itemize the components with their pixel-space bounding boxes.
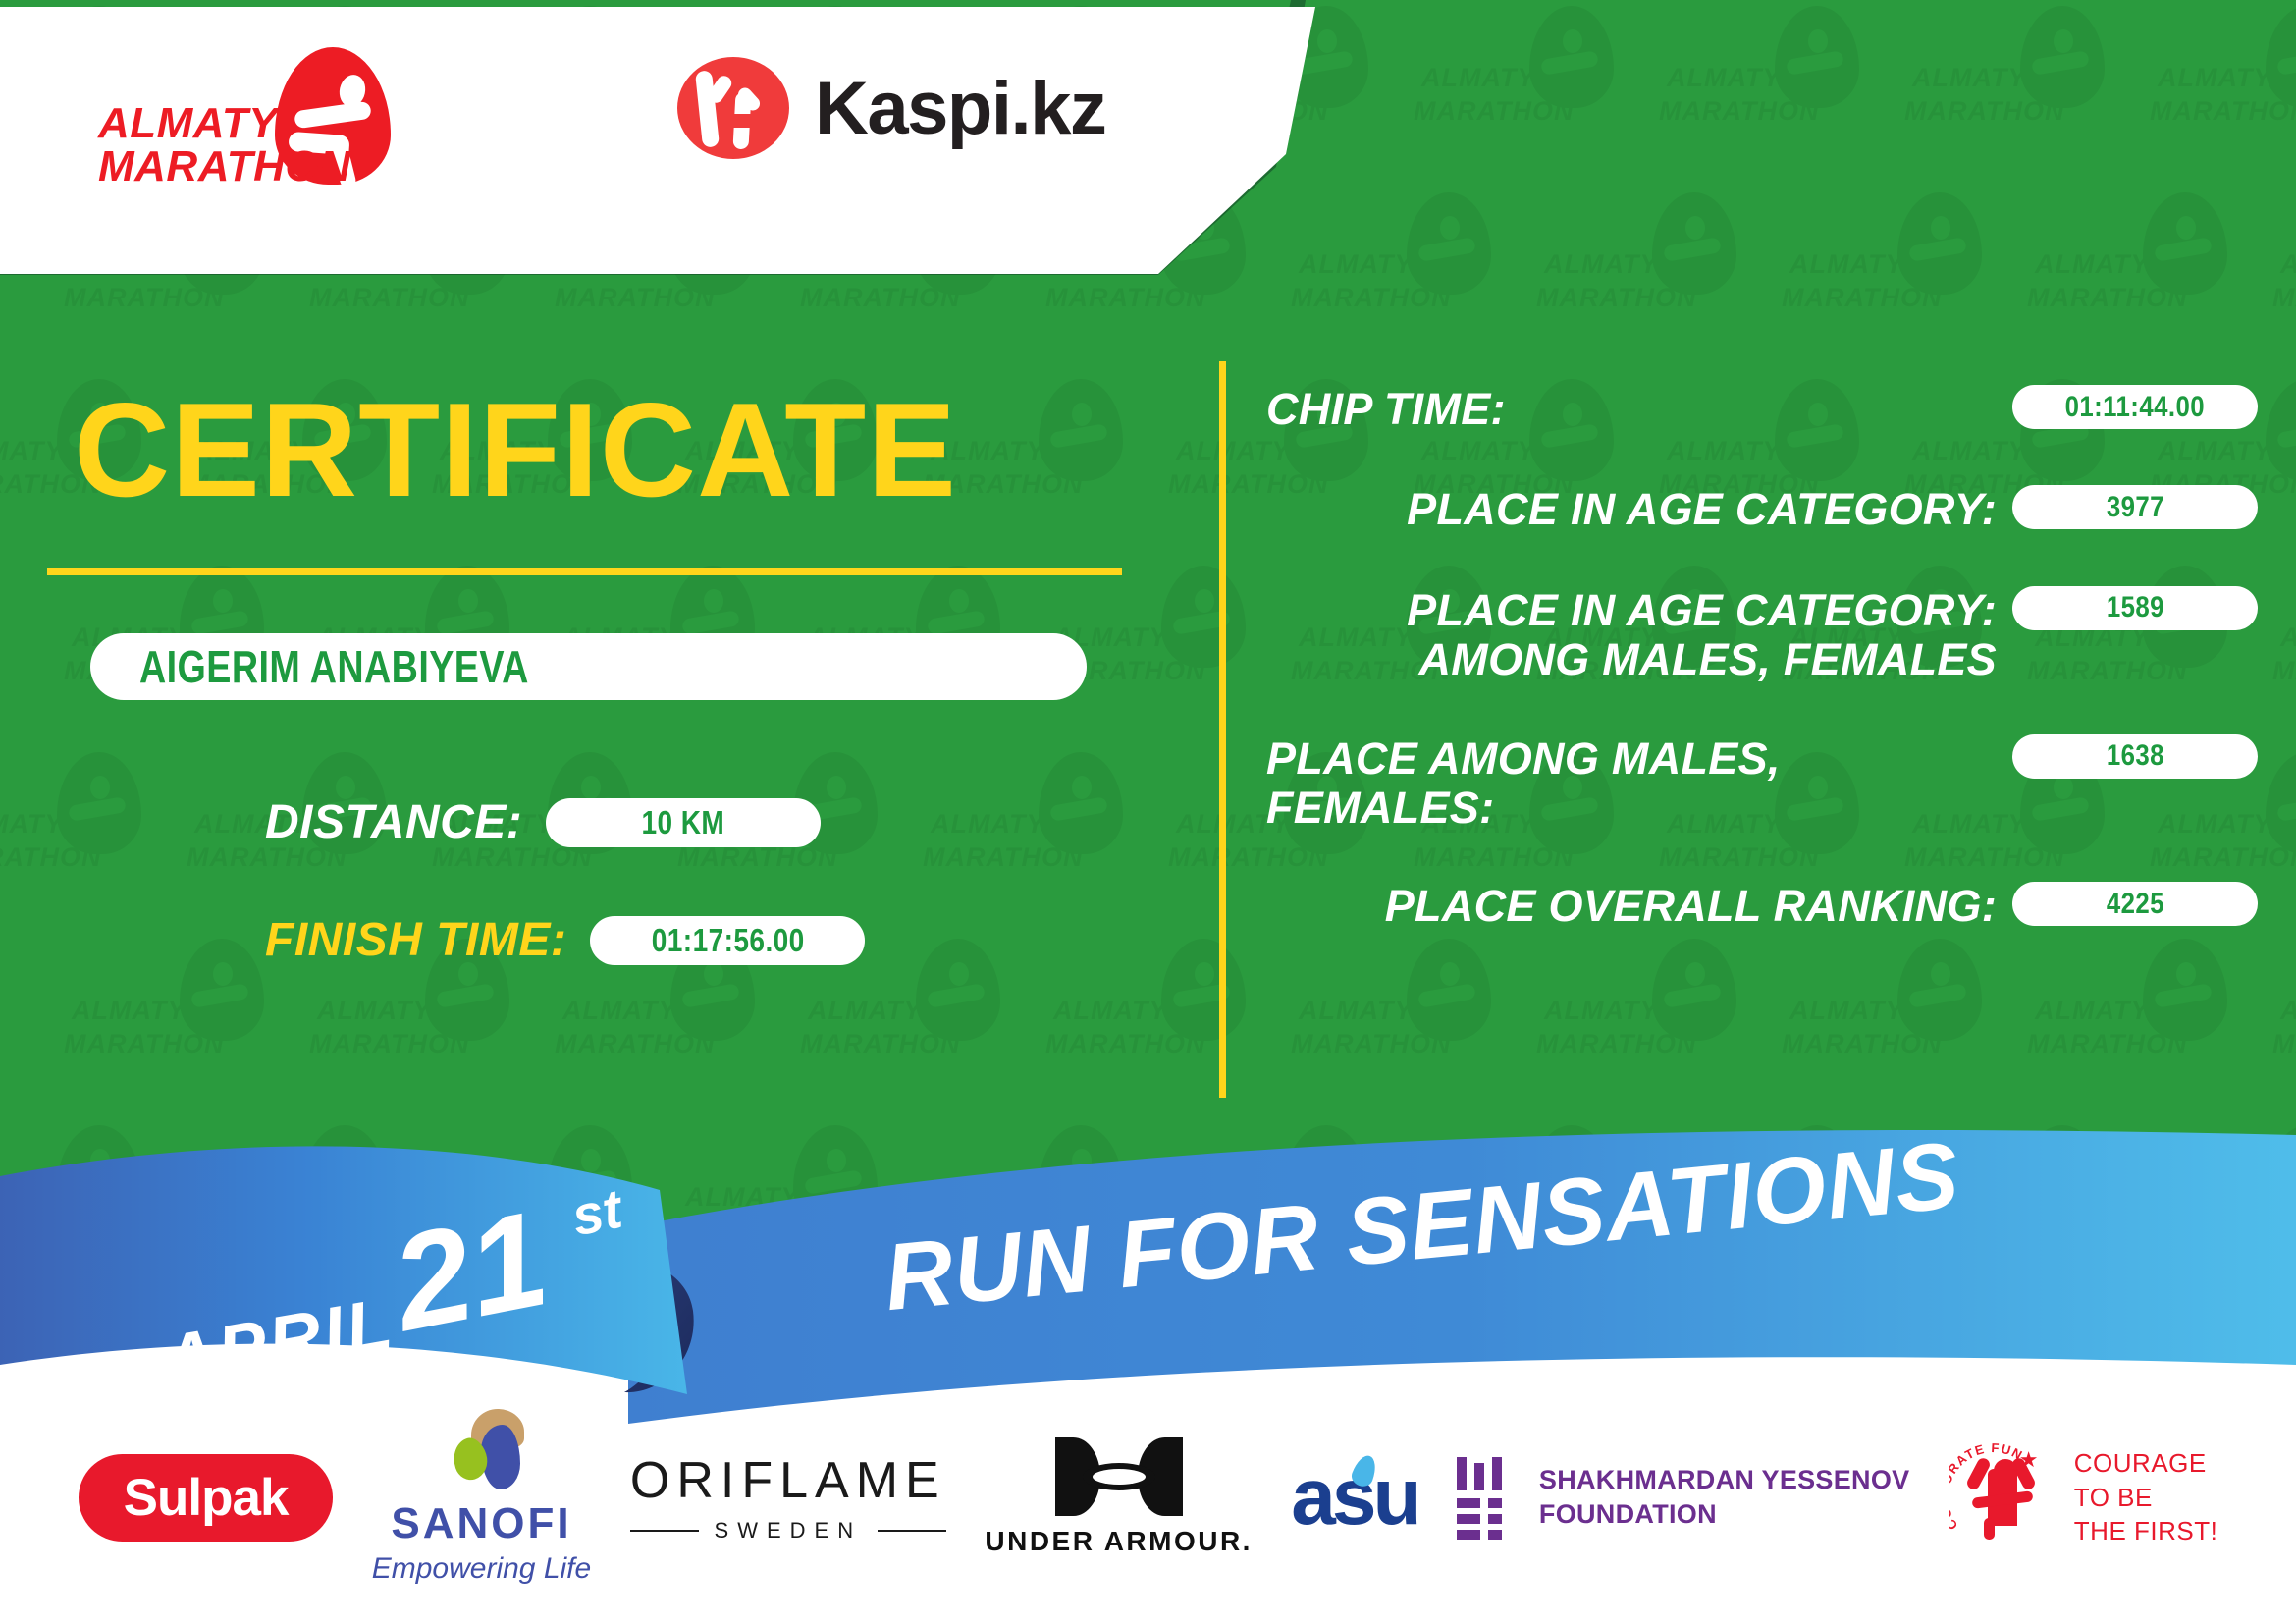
yessenov-line2: FOUNDATION: [1539, 1497, 1910, 1532]
sanofi-tagline: Empowering Life: [372, 1552, 591, 1586]
page-title: CERTIFICATE: [74, 383, 957, 516]
oriflame-name: ORIFLAME: [630, 1451, 946, 1510]
kaspi-people-icon: [677, 57, 789, 159]
place-overall-label: PLACE OVERALL RANKING:: [1266, 882, 2012, 931]
under-armour-logo: [1055, 1437, 1183, 1516]
almaty-marathon-logo: ALMATY MARATHON: [98, 47, 412, 170]
stat-row-place-overall: PLACE OVERALL RANKING: 4225: [1266, 882, 2258, 931]
courage-line3: THE FIRST!: [2074, 1514, 2218, 1548]
stat-row-place-age-category-among: PLACE IN AGE CATEGORY: AMONG MALES, FEMA…: [1266, 586, 2258, 685]
sponsor-yessenov: SHAKHMARDAN YESSENOV FOUNDATION: [1457, 1457, 1910, 1538]
certificate-page: ALMATYMARATHONALMATYMARATHONALMATYMARATH…: [0, 0, 2296, 1624]
courage-to-be-first-logo: CORPORATE FUND ★: [1949, 1443, 2056, 1551]
sponsor-asu: asu: [1291, 1451, 1417, 1543]
stat-row-place-age-category: PLACE IN AGE CATEGORY: 3977: [1266, 485, 2258, 534]
distance-row: DISTANCE: 10 KM: [265, 795, 821, 849]
place-age-category-value-pill: 3977: [2012, 485, 2258, 529]
distance-value: 10 KM: [642, 804, 725, 841]
oriflame-tagline: SWEDEN: [715, 1518, 863, 1543]
label-line-1: PLACE IN AGE CATEGORY:: [1266, 586, 1997, 635]
kaspi-logo: Kaspi.kz: [677, 57, 1105, 159]
participant-name: AIGERIM ANABIYEVA: [139, 640, 529, 693]
kaspi-label: Kaspi.kz: [815, 66, 1105, 151]
title-underline: [47, 568, 1122, 575]
chip-time-value-pill: 01:11:44.00: [2012, 385, 2258, 429]
event-ribbon: APRIL 21 st RUN FOR SENSATIONS: [0, 1100, 2296, 1424]
sponsor-oriflame: ORIFLAME SWEDEN: [630, 1451, 947, 1543]
place-age-category-among-value: 1589: [2106, 591, 2163, 624]
asu-logo: asu: [1291, 1451, 1417, 1543]
ribbon-svg: APRIL 21 st RUN FOR SENSATIONS: [0, 1100, 2296, 1424]
under-armour-name: UNDER ARMOUR.: [985, 1526, 1253, 1557]
place-age-category-value: 3977: [2106, 491, 2163, 524]
sponsor-sulpak: Sulpak: [79, 1454, 334, 1542]
finish-time-label: FINISH TIME:: [265, 913, 566, 967]
yessenov-line1: SHAKHMARDAN YESSENOV: [1539, 1463, 1910, 1497]
finish-time-value-pill: 01:17:56.00: [590, 916, 865, 965]
finish-time-row: FINISH TIME: 01:17:56.00: [265, 913, 865, 967]
place-overall-value: 4225: [2106, 888, 2163, 921]
place-among-value-pill: 1638: [2012, 734, 2258, 779]
courage-line1: COURAGE: [2074, 1446, 2218, 1481]
sponsor-courage-fund: CORPORATE FUND ★ COURAGE TO BE THE FIRST…: [1949, 1443, 2218, 1551]
place-age-category-among-value-pill: 1589: [2012, 586, 2258, 630]
almaty-marathon-line2: MARATHON: [98, 145, 350, 189]
oriflame-sub: SWEDEN: [630, 1518, 947, 1543]
yessenov-name: SHAKHMARDAN YESSENOV FOUNDATION: [1539, 1463, 1910, 1531]
sanofi-logo: [434, 1409, 528, 1493]
stat-row-place-among-males-females: PLACE AMONG MALES, FEMALES: 1638: [1266, 734, 2258, 834]
sulpak-logo: Sulpak: [79, 1454, 334, 1542]
chip-time-value: 01:11:44.00: [2065, 391, 2205, 424]
stat-row-chip-time: CHIP TIME: 01:11:44.00: [1266, 385, 2258, 434]
sponsor-under-armour: UNDER ARMOUR.: [985, 1437, 1253, 1557]
vertical-divider: [1219, 361, 1226, 1098]
place-among-value: 1638: [2106, 739, 2163, 773]
place-age-category-among-label: PLACE IN AGE CATEGORY: AMONG MALES, FEMA…: [1266, 586, 2012, 685]
sponsor-bar: Sulpak SANOFI Empowering Life ORIFLAME S…: [0, 1404, 2296, 1591]
distance-value-pill: 10 KM: [546, 798, 821, 847]
label-line-2: FEMALES:: [1266, 784, 1997, 833]
divider-left: [630, 1530, 699, 1532]
yessenov-foundation-logo: [1457, 1457, 1516, 1538]
sponsor-sanofi: SANOFI Empowering Life: [372, 1409, 591, 1586]
label-line-1: PLACE AMONG MALES,: [1266, 734, 1997, 784]
ribbon-day: 21: [379, 1183, 559, 1361]
courage-line2: TO BE: [2074, 1481, 2218, 1515]
chip-time-label: CHIP TIME:: [1266, 385, 2012, 434]
sanofi-name: SANOFI: [391, 1499, 571, 1548]
place-among-label: PLACE AMONG MALES, FEMALES:: [1266, 734, 2012, 834]
stats-panel: CHIP TIME: 01:11:44.00 PLACE IN AGE CATE…: [1266, 373, 2258, 949]
almaty-marathon-line1: ALMATY: [98, 102, 278, 145]
place-age-category-label: PLACE IN AGE CATEGORY:: [1266, 485, 2012, 534]
finish-time-value: 01:17:56.00: [651, 922, 804, 959]
place-overall-value-pill: 4225: [2012, 882, 2258, 926]
divider-right: [878, 1530, 946, 1532]
participant-name-field: AIGERIM ANABIYEVA: [90, 633, 1087, 700]
distance-label: DISTANCE:: [265, 795, 522, 849]
courage-text: COURAGE TO BE THE FIRST!: [2074, 1446, 2218, 1548]
label-line-2: AMONG MALES, FEMALES: [1266, 635, 1997, 684]
